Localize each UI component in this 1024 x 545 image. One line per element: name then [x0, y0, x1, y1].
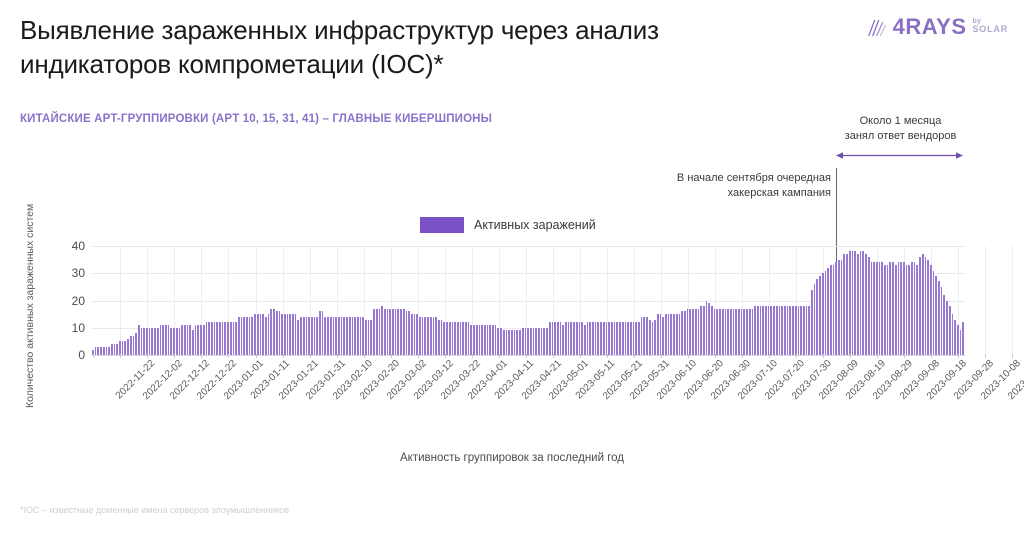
x-axis-tick	[445, 354, 446, 358]
logo-byline: by SOLAR	[973, 18, 1009, 34]
page-title-line2: индикаторов компрометации (IOC)*	[20, 48, 810, 82]
y-axis-tick-label: 0	[78, 348, 85, 362]
x-axis-tick	[418, 354, 419, 358]
bar	[962, 322, 965, 355]
annotation-campaign-line1: В начале сентября очередная	[648, 171, 831, 186]
x-axis-tick	[553, 354, 554, 358]
annotation-vendor-response-line1: Около 1 месяца	[828, 114, 973, 129]
y-axis-tick-label: 10	[72, 321, 85, 335]
vertical-gridline	[1012, 246, 1013, 355]
x-axis-tick	[228, 354, 229, 358]
footnote: *IOC – известные доменные имена серверов…	[20, 505, 289, 515]
legend-label-active-infections: Активных заражений	[474, 218, 596, 232]
logo-wordmark: 4RAYS	[893, 16, 967, 38]
x-axis-tick	[201, 354, 202, 358]
x-axis-tick	[769, 354, 770, 358]
x-axis-line	[92, 355, 965, 356]
x-axis-tick	[688, 354, 689, 358]
brand-logo: 4RAYS by SOLAR	[865, 16, 1008, 38]
x-axis-tick	[850, 354, 851, 358]
x-axis-labels: 2022-11-222022-12-022022-12-122022-12-22…	[92, 358, 965, 438]
y-axis-title: Количество активных зараженных систем	[24, 208, 36, 408]
x-axis-tick	[337, 354, 338, 358]
span-arrow-icon	[836, 151, 963, 160]
x-axis-tick	[580, 354, 581, 358]
plot-area: 010203040	[92, 246, 965, 355]
x-axis-tick	[715, 354, 716, 358]
section-subtitle: КИТАЙСКИЕ APT-ГРУППИРОВКИ (APT 10, 15, 3…	[20, 113, 492, 125]
x-axis-tick	[958, 354, 959, 358]
x-axis-tick	[1012, 354, 1013, 358]
bar-series-active-infections	[92, 246, 965, 355]
x-axis-tick	[823, 354, 824, 358]
x-axis-tick	[391, 354, 392, 358]
x-axis-tick	[120, 354, 121, 358]
x-axis-tick	[742, 354, 743, 358]
x-axis-tick	[147, 354, 148, 358]
x-axis-tick	[661, 354, 662, 358]
y-axis-tick-label: 40	[72, 239, 85, 253]
annotation-vendor-response-line2: занял ответ вендоров	[828, 129, 973, 144]
x-axis-tick	[93, 354, 94, 358]
x-axis-tick	[310, 354, 311, 358]
x-axis-tick	[877, 354, 878, 358]
annotation-campaign-line2: хакерская кампания	[648, 186, 831, 201]
chart-legend: Активных заражений	[420, 217, 596, 233]
x-axis-tick	[256, 354, 257, 358]
x-axis-tick	[364, 354, 365, 358]
x-axis-tick	[472, 354, 473, 358]
x-axis-title: Активность группировок за последний год	[0, 452, 1024, 464]
x-axis-tick	[283, 354, 284, 358]
infections-bar-chart: Количество активных зараженных систем Ак…	[0, 212, 1024, 452]
vertical-gridline	[985, 246, 986, 355]
y-axis-tick-label: 30	[72, 266, 85, 280]
rays-icon	[865, 19, 887, 37]
x-axis-tick	[904, 354, 905, 358]
x-axis-tick	[526, 354, 527, 358]
x-axis-tick	[634, 354, 635, 358]
x-axis-tick	[985, 354, 986, 358]
logo-brand-label: SOLAR	[973, 25, 1009, 34]
y-axis-tick-label: 20	[72, 294, 85, 308]
page-title-line1: Выявление зараженных инфраструктур через…	[20, 14, 810, 48]
x-axis-tick	[796, 354, 797, 358]
annotation-vendor-response: Около 1 месяца занял ответ вендоров	[828, 114, 973, 144]
x-axis-tick	[499, 354, 500, 358]
legend-swatch-active-infections	[420, 217, 464, 233]
x-axis-tick	[931, 354, 932, 358]
x-axis-tick	[174, 354, 175, 358]
annotation-campaign: В начале сентября очередная хакерская ка…	[648, 171, 831, 201]
page-title: Выявление зараженных инфраструктур через…	[20, 14, 810, 82]
x-axis-tick	[607, 354, 608, 358]
